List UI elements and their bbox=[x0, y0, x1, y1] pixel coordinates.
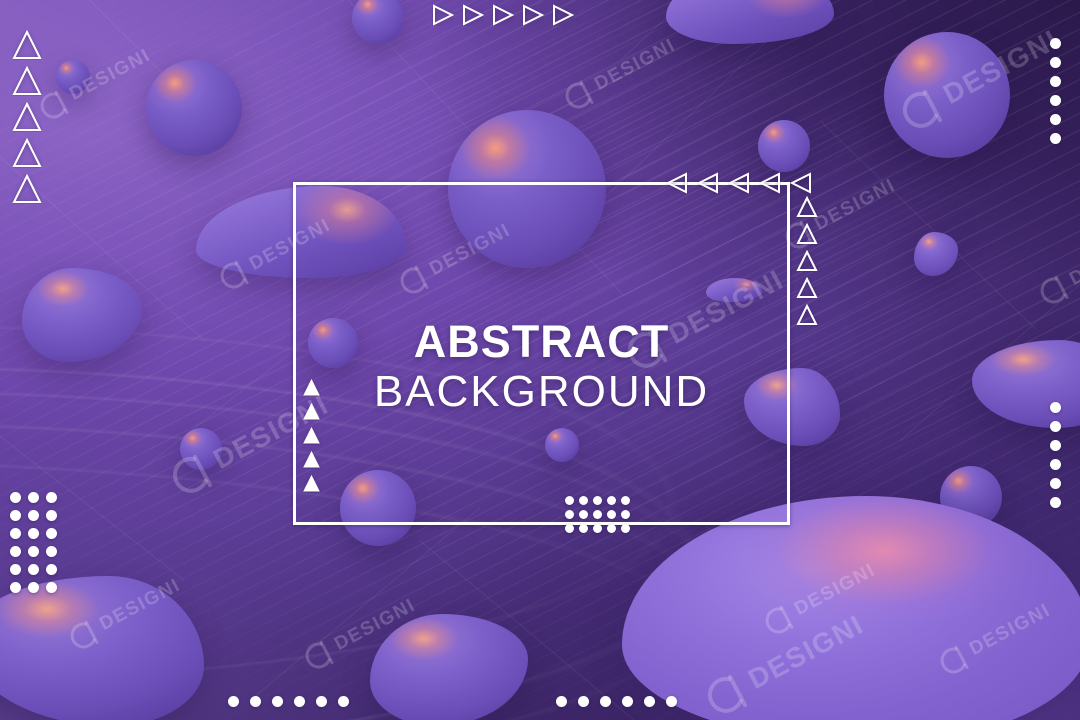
dot bbox=[607, 496, 616, 505]
blob-left-organic bbox=[22, 268, 142, 362]
dot bbox=[1050, 133, 1061, 144]
dot-column-top-right bbox=[1050, 38, 1061, 144]
triangle-up-icon bbox=[12, 66, 42, 96]
dot bbox=[622, 696, 633, 707]
blob-bottom-center bbox=[370, 614, 528, 720]
dot bbox=[1050, 76, 1061, 87]
triangle-up-icon bbox=[12, 30, 42, 60]
dot bbox=[10, 510, 21, 521]
dot bbox=[556, 696, 567, 707]
triangle-left-icon bbox=[697, 172, 719, 194]
triangle-up-icon bbox=[12, 174, 42, 204]
triangle-left-icon bbox=[759, 172, 781, 194]
dot bbox=[46, 564, 57, 575]
dot bbox=[10, 492, 21, 503]
triangles-up-outline-right-group bbox=[796, 196, 818, 326]
triangle-up-icon bbox=[12, 102, 42, 132]
dot bbox=[565, 510, 574, 519]
dot bbox=[607, 524, 616, 533]
watermark-text: DESIGNI bbox=[1066, 230, 1080, 291]
dot bbox=[1050, 421, 1061, 432]
page-title: ABSTRACT BACKGROUND bbox=[293, 319, 790, 414]
dot bbox=[28, 546, 39, 557]
dot bbox=[1050, 57, 1061, 68]
dot bbox=[666, 696, 677, 707]
blob-bottom-right-mega bbox=[622, 496, 1080, 720]
blob-right-edge-large bbox=[972, 340, 1080, 428]
dot bbox=[1050, 497, 1061, 508]
triangle-up-icon bbox=[302, 450, 321, 469]
dot-grid-bottom-left bbox=[10, 492, 57, 593]
dot-grid-frame-bottom bbox=[565, 496, 630, 533]
triangle-up-icon bbox=[796, 196, 818, 218]
dot bbox=[46, 510, 57, 521]
dot bbox=[28, 492, 39, 503]
dot-row-bottom-left bbox=[228, 696, 349, 707]
dot bbox=[28, 510, 39, 521]
triangles-right-outline-top-group bbox=[432, 4, 574, 26]
watermark-designi: DESIGNI bbox=[561, 33, 681, 113]
triangle-up-icon bbox=[302, 378, 321, 397]
dot bbox=[565, 524, 574, 533]
dot bbox=[1050, 478, 1061, 489]
dot bbox=[600, 696, 611, 707]
triangle-left-icon bbox=[728, 172, 750, 194]
designi-logo-icon bbox=[301, 638, 336, 673]
dot bbox=[621, 524, 630, 533]
triangles-up-solid-left-group bbox=[302, 378, 321, 493]
blob-top-right-long bbox=[666, 0, 834, 44]
dot bbox=[1050, 114, 1061, 125]
triangle-left-icon bbox=[666, 172, 688, 194]
sphere-left-small bbox=[180, 428, 222, 470]
watermark-designi: DESIGNI bbox=[1036, 228, 1080, 308]
triangle-up-icon bbox=[302, 474, 321, 493]
triangle-up-icon bbox=[796, 250, 818, 272]
dot-column-mid-right bbox=[1050, 402, 1061, 508]
dot bbox=[46, 492, 57, 503]
blob-bottom-left-large bbox=[0, 576, 204, 720]
sphere-top-center-tiny bbox=[352, 0, 404, 44]
title-line-background: BACKGROUND bbox=[293, 370, 790, 414]
dot bbox=[294, 696, 305, 707]
dot bbox=[228, 696, 239, 707]
triangle-up-icon bbox=[302, 426, 321, 445]
triangle-up-icon bbox=[12, 138, 42, 168]
sphere-top-left-small bbox=[56, 60, 90, 94]
dot bbox=[1050, 440, 1061, 451]
triangle-right-icon bbox=[462, 4, 484, 26]
triangle-left-icon bbox=[790, 172, 812, 194]
dot bbox=[607, 510, 616, 519]
dot bbox=[593, 496, 602, 505]
sphere-top-right-large bbox=[884, 32, 1010, 158]
dot bbox=[1050, 459, 1061, 470]
dot bbox=[28, 528, 39, 539]
designi-logo-icon bbox=[561, 78, 596, 113]
dot-row-bottom-center bbox=[556, 696, 677, 707]
dot bbox=[338, 696, 349, 707]
dot bbox=[46, 546, 57, 557]
dot bbox=[621, 496, 630, 505]
dot bbox=[1050, 95, 1061, 106]
dot bbox=[644, 696, 655, 707]
dot bbox=[593, 510, 602, 519]
dot bbox=[10, 582, 21, 593]
dot bbox=[46, 582, 57, 593]
dot bbox=[250, 696, 261, 707]
triangles-left-outline-group bbox=[666, 172, 812, 194]
dot bbox=[1050, 38, 1061, 49]
sphere-upper-right-small bbox=[758, 120, 810, 172]
triangle-right-icon bbox=[432, 4, 454, 26]
dot bbox=[579, 524, 588, 533]
dot bbox=[593, 524, 602, 533]
triangle-up-icon bbox=[796, 277, 818, 299]
triangle-right-icon bbox=[522, 4, 544, 26]
dot bbox=[272, 696, 283, 707]
dot bbox=[10, 564, 21, 575]
watermark-text: DESIGNI bbox=[591, 35, 680, 96]
dot bbox=[621, 510, 630, 519]
dot bbox=[578, 696, 589, 707]
dot bbox=[10, 546, 21, 557]
triangle-up-icon bbox=[796, 223, 818, 245]
designi-logo-icon bbox=[1036, 273, 1071, 308]
dot bbox=[579, 510, 588, 519]
triangle-up-icon bbox=[302, 402, 321, 421]
title-line-abstract: ABSTRACT bbox=[293, 319, 790, 364]
dot bbox=[565, 496, 574, 505]
triangle-up-icon bbox=[796, 304, 818, 326]
watermark-designi: DESIGNI bbox=[36, 43, 156, 123]
dot bbox=[10, 528, 21, 539]
dot bbox=[28, 564, 39, 575]
dot bbox=[46, 528, 57, 539]
dot bbox=[28, 582, 39, 593]
watermark-text: DESIGNI bbox=[811, 175, 900, 236]
triangles-up-outline-left-group bbox=[12, 30, 42, 204]
abstract-background-canvas: DESIGNIDESIGNIDESIGNIDESIGNIDESIGNIDESIG… bbox=[0, 0, 1080, 720]
sphere-top-left-medium bbox=[146, 60, 242, 156]
triangle-right-icon bbox=[492, 4, 514, 26]
triangle-right-icon bbox=[552, 4, 574, 26]
dot bbox=[316, 696, 327, 707]
dot bbox=[579, 496, 588, 505]
blob-right-edge-small bbox=[914, 232, 958, 276]
dot bbox=[1050, 402, 1061, 413]
